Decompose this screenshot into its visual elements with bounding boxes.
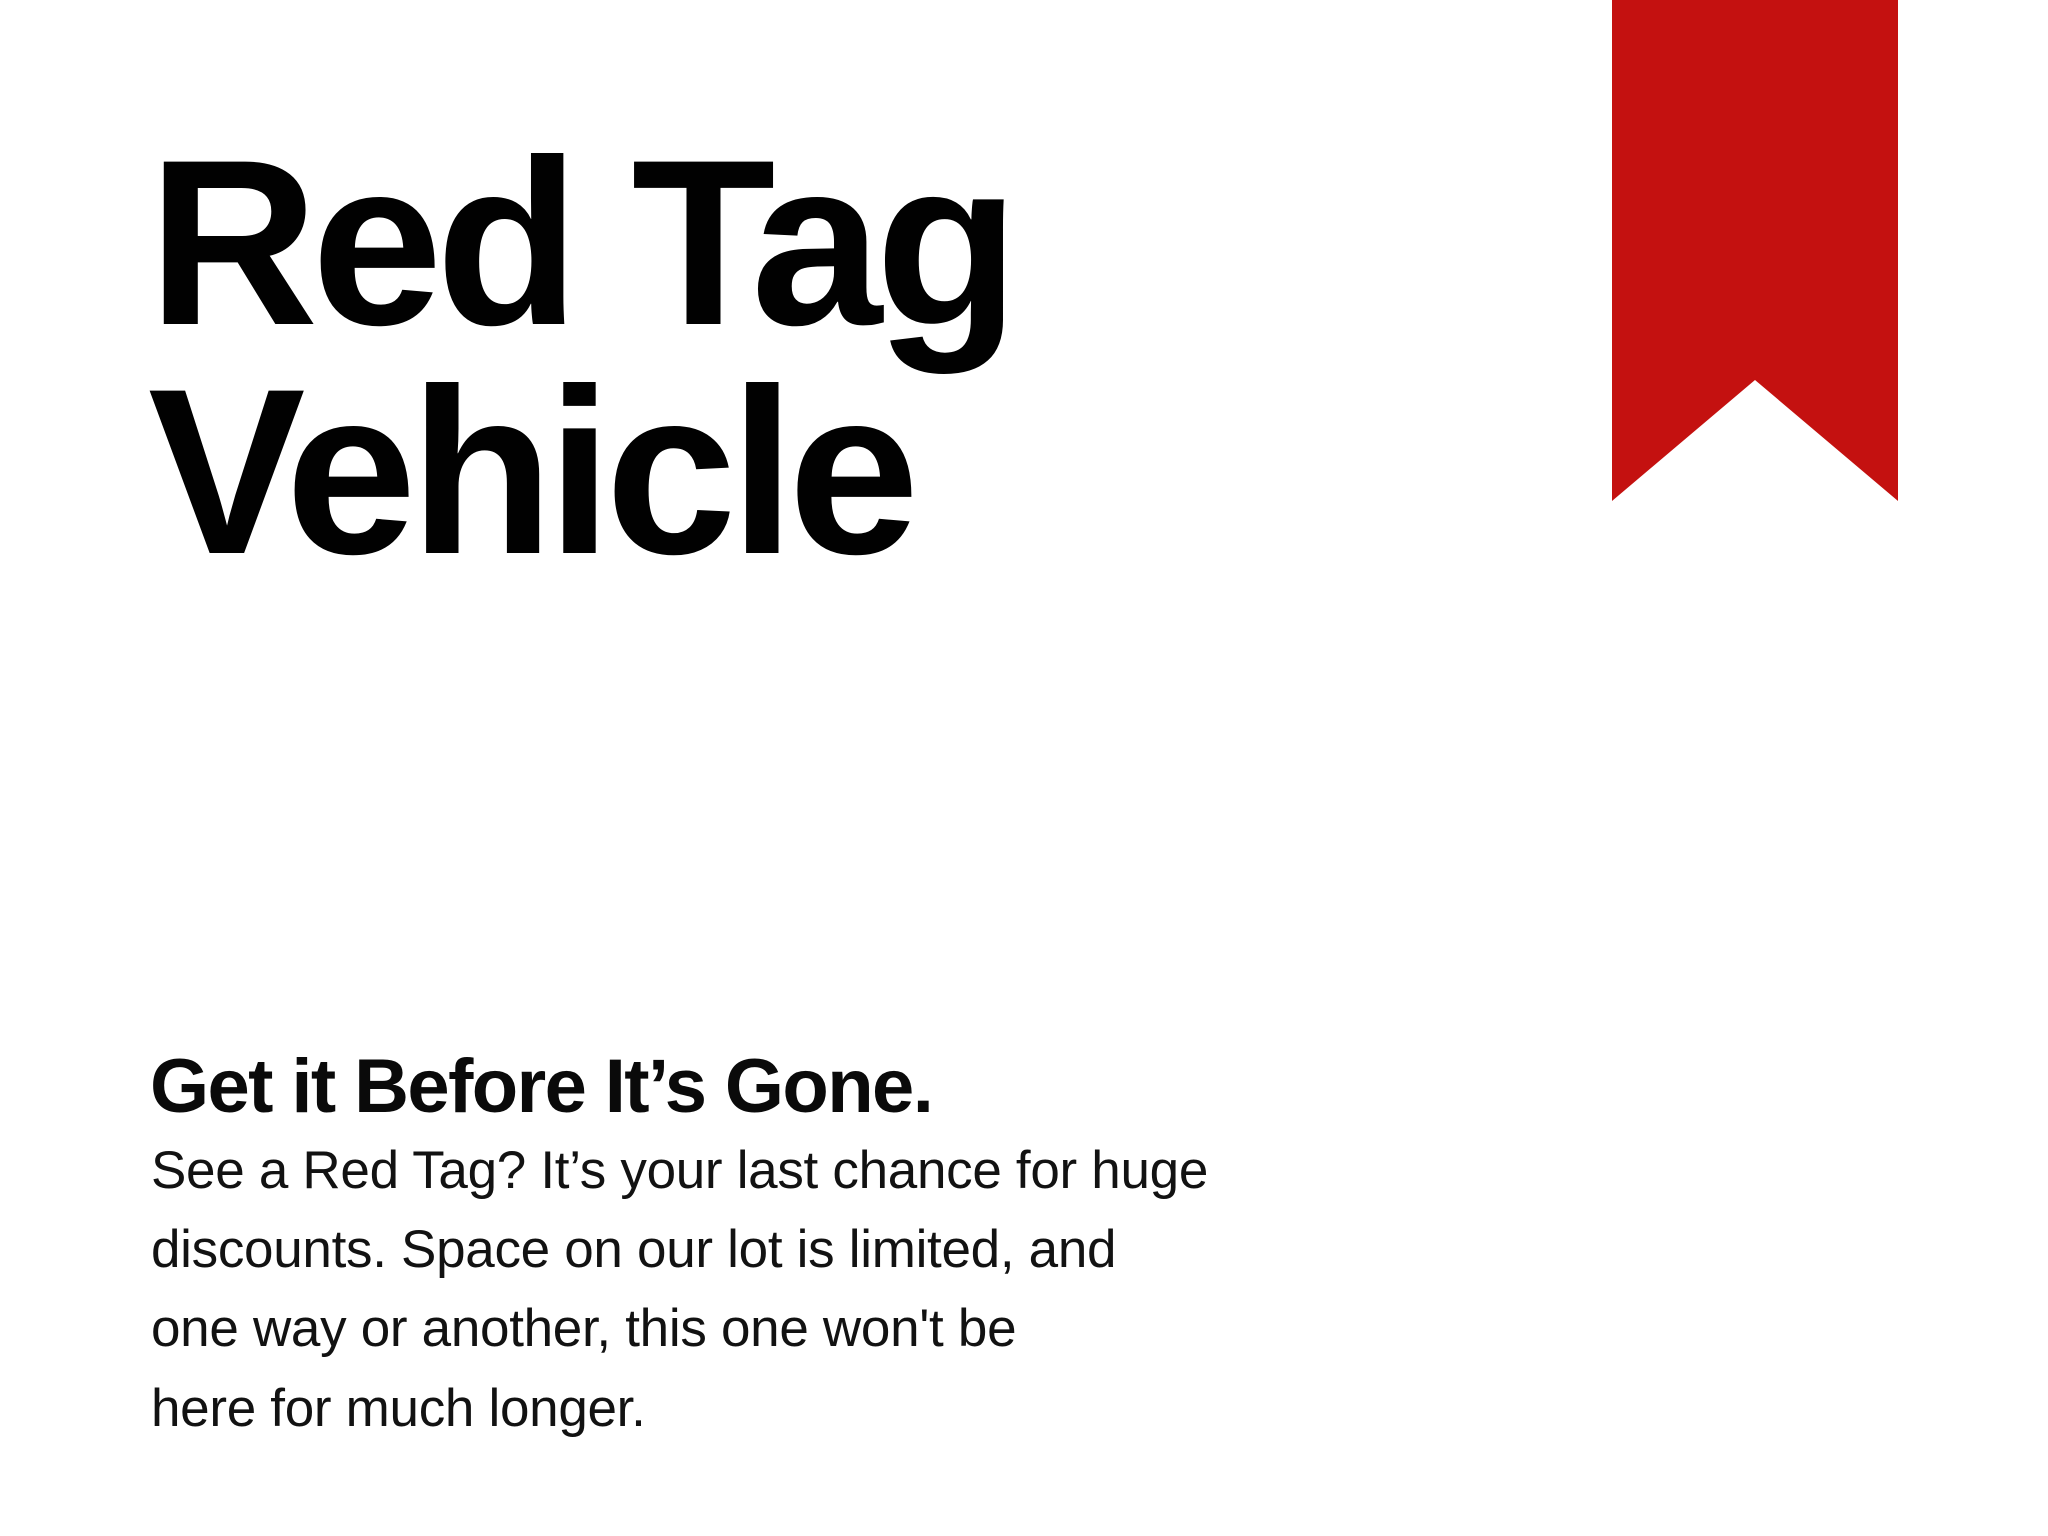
body-line: See a Red Tag? It’s your last chance for… (151, 1131, 1331, 1210)
body-line: discounts. Space on our lot is limited, … (151, 1210, 1331, 1289)
body-line: one way or another, this one won't be (151, 1289, 1331, 1368)
red-tag-ribbon-icon (1612, 0, 1898, 501)
page-title: Red Tag Vehicle (148, 129, 1448, 587)
headline-line-1: Red Tag (148, 129, 1448, 358)
body-line: here for much longer. (151, 1369, 1331, 1448)
red-tag-vehicle-poster: Red Tag Vehicle Get it Before It’s Gone.… (0, 0, 2048, 1536)
body-paragraph: See a Red Tag? It’s your last chance for… (151, 1131, 1331, 1448)
headline-line-2: Vehicle (148, 358, 1448, 587)
subheading: Get it Before It’s Gone. (150, 1047, 932, 1127)
